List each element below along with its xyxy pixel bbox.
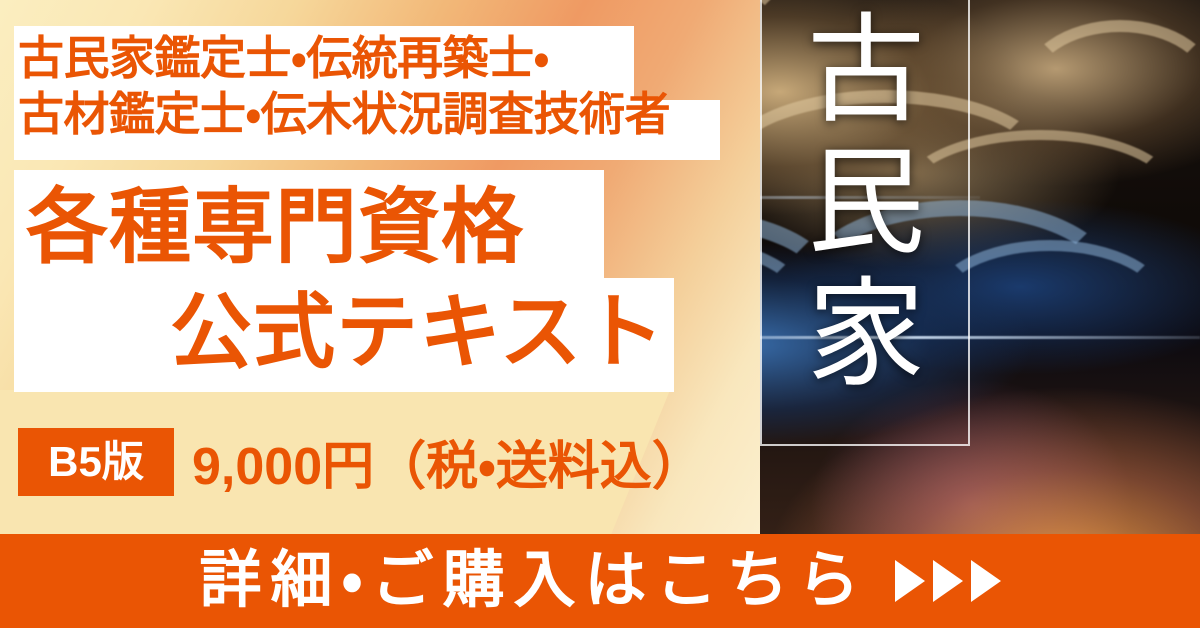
promo-banner: 古 民 家 伝統構法、古民家活用のための調査と再生の 古民家鑑定士・伝統再築士・… (0, 0, 1200, 628)
blue-wave-ridge (930, 240, 1170, 370)
arrow-right-icon (933, 560, 963, 602)
cover-title-char-3: 家 (776, 268, 956, 400)
triple-arrow-right-icon (895, 560, 1001, 602)
arrow-right-icon (971, 560, 1001, 602)
cta-label: 詳細・ご購入はこちら (199, 550, 868, 612)
certifications-line-1: 古民家鑑定士・伝統再築士・ (18, 30, 718, 86)
page-title: 各種専門資格 公式テキスト (20, 176, 670, 386)
cta-button[interactable]: 詳細・ご購入はこちら (0, 534, 1200, 628)
format-badge: B5版 (18, 428, 174, 496)
certifications-text: 古民家鑑定士・伝統再築士・ 古材鑑定士・伝木状況調査技術者 (18, 30, 718, 142)
price-amount: 9,000円（税・送料込） (192, 424, 704, 499)
headline-line-1: 各種専門資格 (20, 176, 670, 281)
cover-title-char-1: 古 (776, 4, 956, 136)
headline-line-2: 公式テキスト (20, 281, 670, 386)
price-row: B5版 9,000円（税・送料込） (18, 424, 704, 499)
arrow-right-icon (895, 560, 925, 602)
certifications-line-2: 古材鑑定士・伝木状況調査技術者 (18, 86, 718, 142)
cover-title: 古 民 家 (776, 4, 956, 400)
cover-title-char-2: 民 (776, 136, 956, 268)
